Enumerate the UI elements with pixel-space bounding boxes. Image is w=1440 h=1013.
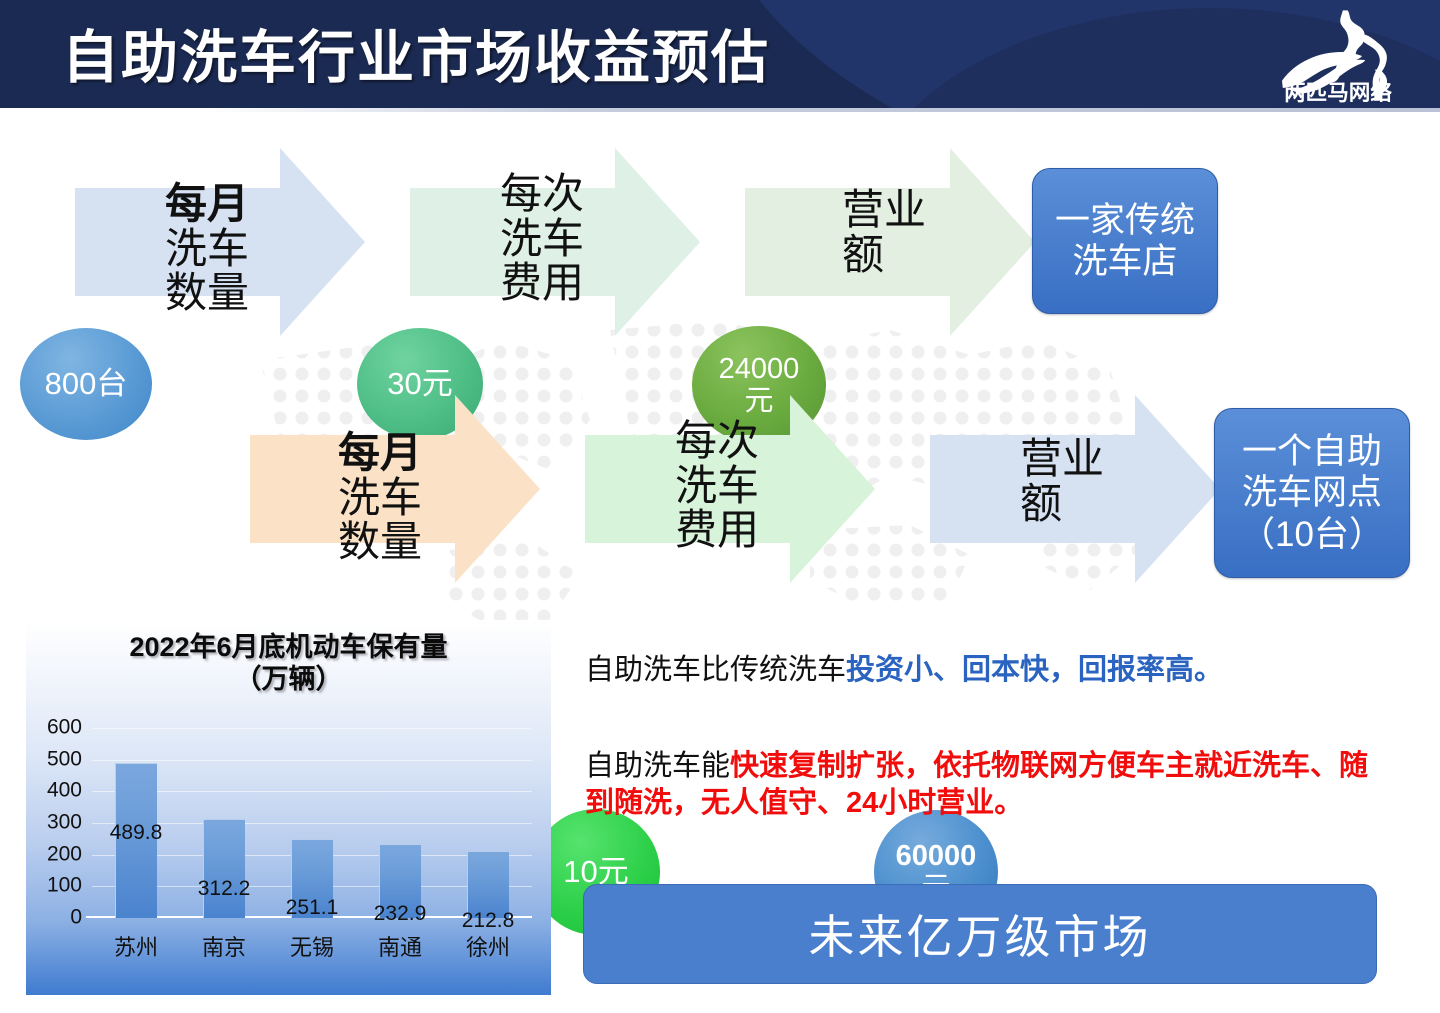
- chart-category-label: 南京: [202, 930, 246, 962]
- benefit-line-1: 自助洗车比传统洗车投资小、回本快，回报率高。: [585, 652, 1223, 689]
- label-line: 数量: [338, 520, 422, 565]
- chart-bar-value-label: 489.8: [110, 821, 163, 845]
- outcome-line: （10台）: [1240, 515, 1384, 554]
- label-line: 数量: [165, 271, 249, 316]
- label-line: 费用: [500, 261, 584, 306]
- outcome-line: 洗车网点: [1242, 473, 1382, 512]
- chart-y-tick-label: 600: [47, 716, 82, 740]
- outcome-line: 一个自助: [1242, 432, 1382, 471]
- arrow-label-row1-step1: 每月 洗车 数量: [165, 182, 249, 316]
- chart-bar-value-label: 312.2: [198, 877, 251, 901]
- logo-text: 两匹马网络: [1284, 80, 1392, 104]
- arrow-label-row2-step1: 每月 洗车 数量: [338, 431, 422, 565]
- chart-bar-value-label: 212.8: [462, 909, 515, 933]
- label-line: 洗车: [165, 227, 249, 272]
- vehicle-ownership-bar-chart: 2022年6月底机动车保有量 （万辆） 01002003004005006004…: [26, 620, 551, 995]
- outcome-line: 一家传统: [1055, 201, 1195, 240]
- page-title: 自助洗车行业市场收益预估: [62, 12, 770, 94]
- chart-y-tick-label: 300: [47, 811, 82, 835]
- cta-banner-future-market[interactable]: 未来亿万级市场: [583, 884, 1377, 984]
- chart-gridline: [92, 791, 532, 792]
- chart-category-label: 苏州: [114, 930, 158, 962]
- outcome-box-selfservice-station: 一个自助 洗车网点 （10台）: [1214, 408, 1410, 578]
- chart-title: 2022年6月底机动车保有量 （万辆）: [26, 632, 551, 696]
- benefit-line-1-plain: 自助洗车比传统洗车: [585, 654, 846, 686]
- arrow-label-row1-step3: 营业 额: [842, 188, 926, 277]
- arrow-label-row2-step3: 营业 额: [1020, 437, 1104, 526]
- label-line: 费用: [675, 508, 759, 553]
- chart-y-tick-label: 200: [47, 842, 82, 866]
- arrow-label-row2-step2: 每次 洗车 费用: [675, 419, 759, 553]
- bubble-label-line: 60000: [896, 840, 977, 872]
- bubble-label-line: 24000: [719, 353, 800, 385]
- chart-gridline: [92, 760, 532, 761]
- flow-row-traditional: 800台 每月 洗车 数量 30元 每次 洗车 费用 24000 元: [0, 140, 1440, 340]
- chart-title-line-2: （万辆）: [26, 664, 551, 696]
- benefit-line-2-red-a: 快速复制扩张，依托物联网方便车主: [730, 750, 1194, 782]
- label-line: 额: [1020, 482, 1104, 527]
- label-line: 洗车: [500, 217, 584, 262]
- label-line: 洗车: [675, 464, 759, 509]
- chart-category-label: 无锡: [290, 930, 334, 962]
- chart-bar-value-label: 251.1: [286, 896, 339, 920]
- slide-root: 自助洗车行业市场收益预估 两匹马网络 800台 每月 洗车 数量: [0, 0, 1440, 1013]
- chart-category-label: 徐州: [466, 930, 510, 962]
- label-line: 额: [842, 233, 926, 278]
- label-line: 每次: [500, 172, 584, 217]
- two-horses-logo-icon: 两匹马网络: [1258, 4, 1418, 104]
- chart-y-tick-label: 100: [47, 874, 82, 898]
- chart-y-tick-label: 0: [70, 906, 82, 930]
- slide-header: 自助洗车行业市场收益预估 两匹马网络: [0, 0, 1440, 108]
- cta-label: 未来亿万级市场: [809, 901, 1152, 967]
- benefit-line-2: 自助洗车能快速复制扩张，依托物联网方便车主就近洗车、随到随洗，无人值守、24小时…: [585, 748, 1385, 822]
- label-line: 营业: [1020, 437, 1104, 482]
- benefit-line-2-plain: 自助洗车能: [585, 750, 730, 782]
- label-bold-line: 每月: [165, 182, 249, 227]
- label-line: 洗车: [338, 476, 422, 521]
- arrow-label-row1-step2: 每次 洗车 费用: [500, 172, 584, 306]
- outcome-line: 洗车店: [1072, 242, 1177, 281]
- chart-category-label: 南通: [378, 930, 422, 962]
- chart-plot-area: 0100200300400500600489.8苏州312.2南京251.1无锡…: [92, 728, 532, 918]
- chart-bar: [203, 819, 245, 918]
- chart-y-tick-label: 500: [47, 747, 82, 771]
- label-line: 营业: [842, 188, 926, 233]
- chart-title-line-1: 2022年6月底机动车保有量: [26, 632, 551, 664]
- header-underline: [0, 108, 1440, 112]
- label-line: 每次: [675, 419, 759, 464]
- flow-row-selfservice: 6000 台 每月 洗车 数量 10元 每次 洗车 费用 60000: [0, 385, 1440, 595]
- chart-y-tick-label: 400: [47, 779, 82, 803]
- benefit-line-1-accent: 投资小、回本快，回报率高。: [846, 654, 1223, 686]
- outcome-box-traditional-shop: 一家传统 洗车店: [1032, 168, 1218, 314]
- chart-gridline: [92, 728, 532, 729]
- chart-bar-value-label: 232.9: [374, 902, 427, 926]
- label-bold-line: 每月: [338, 431, 422, 476]
